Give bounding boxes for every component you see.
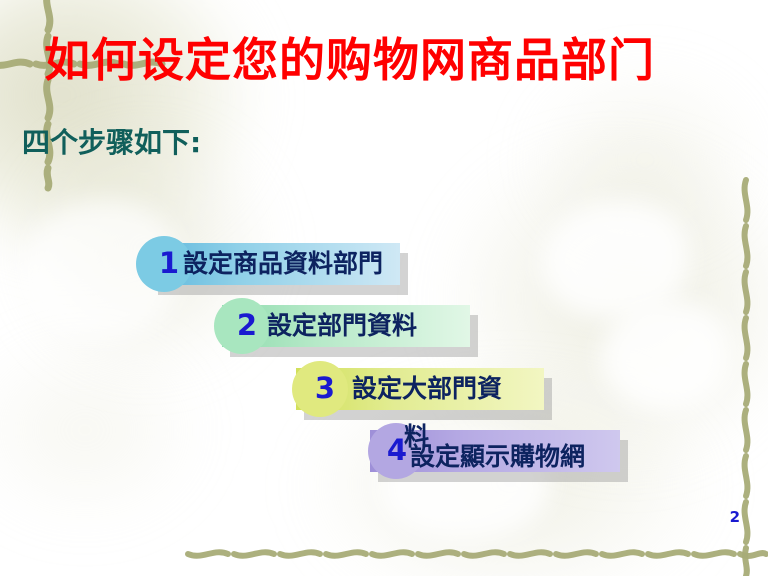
step-number: 3: [312, 374, 338, 403]
slide-canvas: 如何设定您的购物网商品部门 四个步骤如下: 1 設定商品資料部門 2 設定部門資…: [0, 0, 768, 576]
step-label: 設定大部門資: [352, 376, 502, 401]
step-label: 設定部門資料: [267, 313, 417, 338]
step-label: 設定商品資料部門: [183, 251, 383, 276]
page-number: 2: [730, 508, 740, 526]
step-number: 1: [156, 249, 182, 278]
step-number: 2: [234, 311, 260, 340]
steps-list: 1 設定商品資料部門 2 設定部門資料 3 設定大部門資 料 4 設定顯示: [0, 0, 768, 576]
step-label: 設定顯示購物網: [410, 444, 585, 469]
step-label-overflow: 料: [404, 424, 429, 449]
list-item[interactable]: 1 設定商品資料部門: [150, 243, 400, 285]
list-item[interactable]: 3 設定大部門資: [296, 368, 544, 410]
list-item[interactable]: 2 設定部門資料: [222, 305, 470, 347]
